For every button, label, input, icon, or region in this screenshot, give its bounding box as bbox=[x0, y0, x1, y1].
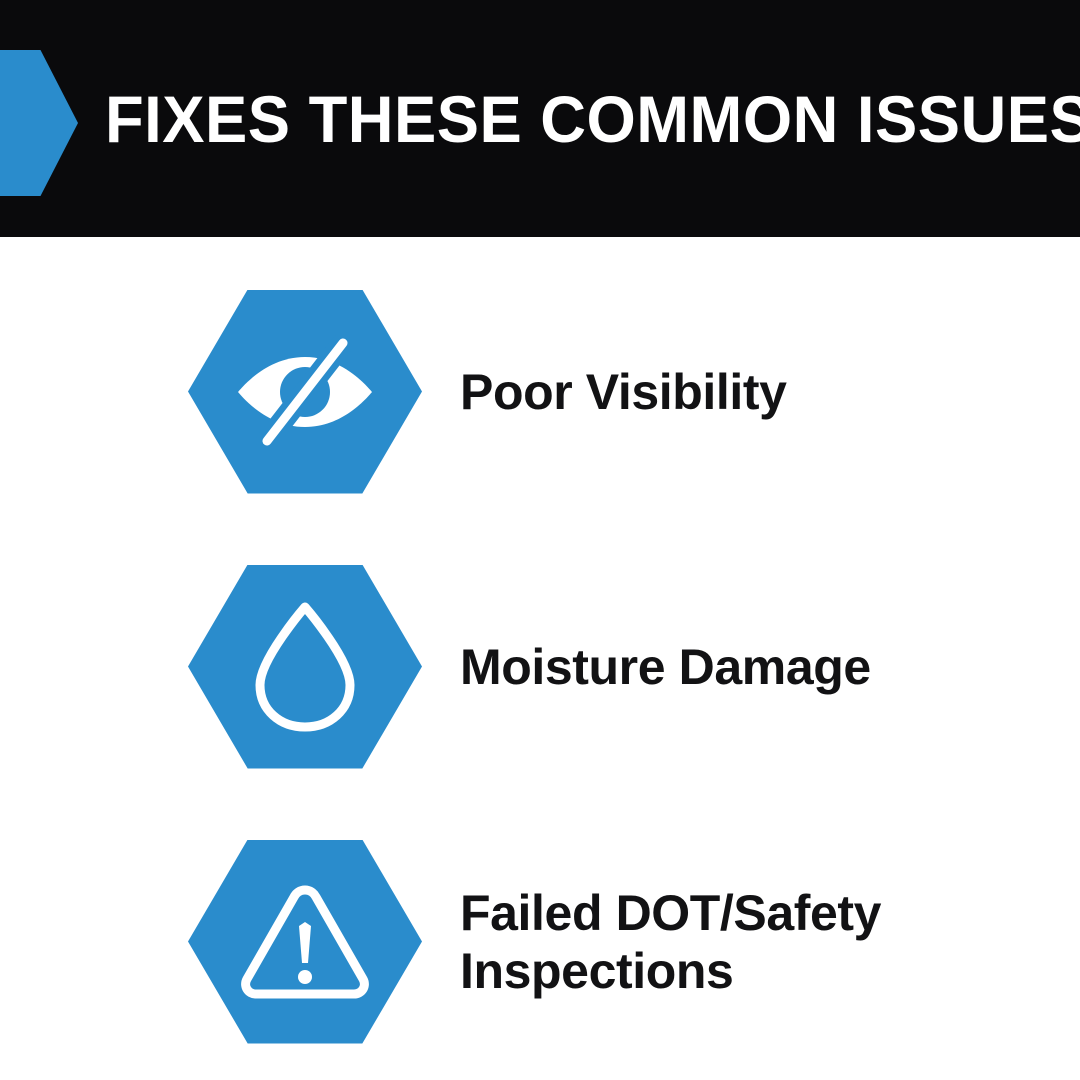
issue-label-line: Poor Visibility bbox=[460, 363, 787, 421]
eye-slash-icon bbox=[188, 290, 422, 494]
water-droplet-icon bbox=[188, 565, 422, 769]
issue-icon-badge bbox=[188, 565, 422, 769]
issues-list: Poor Visibility Moisture Damage bbox=[0, 237, 1080, 1080]
issue-row: Poor Visibility bbox=[0, 269, 1080, 514]
header-band: FIXES THESE COMMON ISSUES bbox=[0, 0, 1080, 237]
warning-triangle-icon bbox=[188, 840, 422, 1044]
issue-icon-badge bbox=[188, 840, 422, 1044]
issue-label-line: Moisture Damage bbox=[460, 638, 871, 696]
page-title: FIXES THESE COMMON ISSUES bbox=[105, 76, 969, 162]
issue-label-line: Failed DOT/Safety bbox=[460, 884, 881, 942]
issue-row: Moisture Damage bbox=[0, 544, 1080, 789]
hexagon-arrow-badge-icon bbox=[0, 50, 78, 196]
issue-icon-badge bbox=[188, 290, 422, 494]
issue-label: Failed DOT/Safety Inspections bbox=[460, 884, 881, 1000]
issue-row: Failed DOT/Safety Inspections bbox=[0, 819, 1080, 1064]
issue-label-line: Inspections bbox=[460, 942, 881, 1000]
issue-label: Poor Visibility bbox=[460, 363, 787, 421]
issue-label: Moisture Damage bbox=[460, 638, 871, 696]
infographic-page: FIXES THESE COMMON ISSUES bbox=[0, 0, 1080, 1080]
